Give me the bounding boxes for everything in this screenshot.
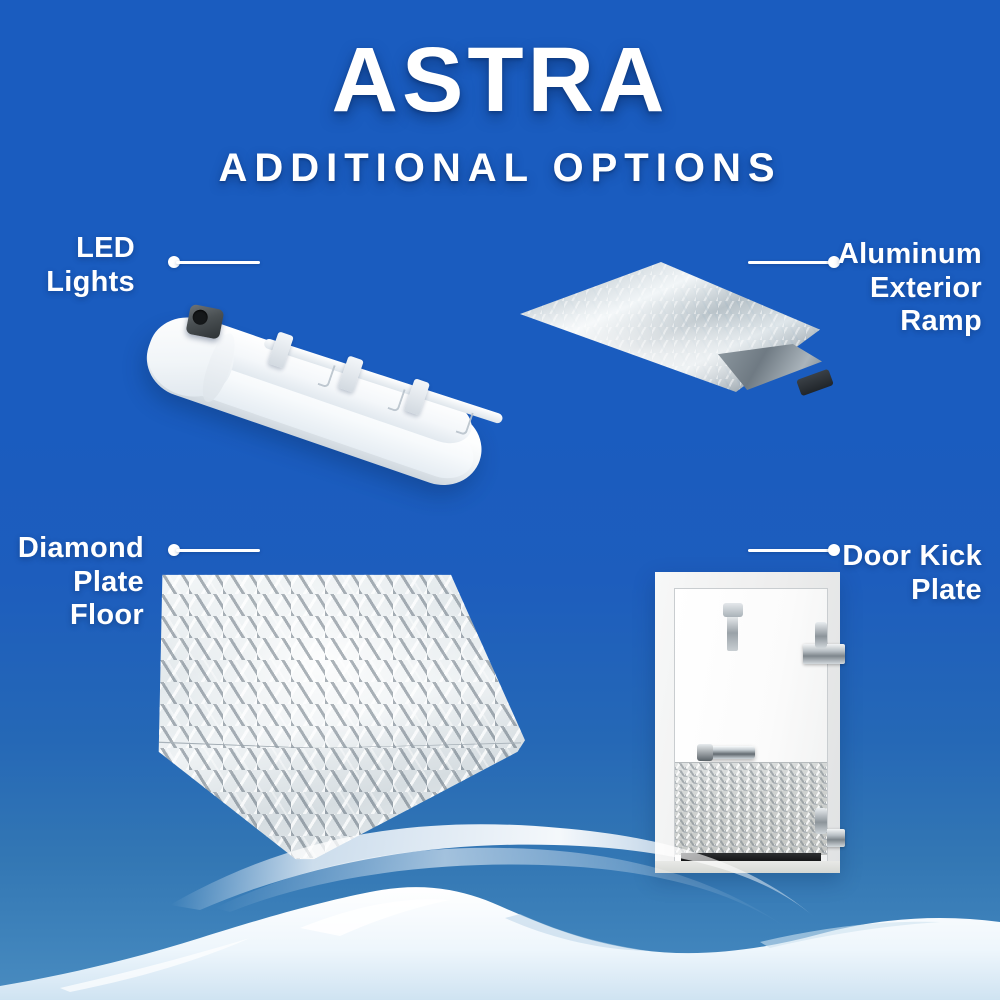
ice-mountain-graphic	[0, 810, 1000, 1000]
poster-canvas: ASTRA ADDITIONAL OPTIONS LED Lights	[0, 0, 1000, 1000]
poster-header: ASTRA ADDITIONAL OPTIONS	[0, 0, 1000, 188]
callout-label-line: Plate	[6, 566, 144, 600]
callout-label-line: Lights	[10, 266, 135, 300]
led-fixture-group	[132, 291, 508, 512]
door-safety-release	[727, 615, 738, 651]
connector-line-led-lights	[168, 256, 260, 268]
callout-label-line: Door Kick	[762, 540, 982, 574]
door-hinge-pin-top	[815, 622, 827, 648]
connector-line-diamond-plate-floor	[168, 544, 260, 556]
led-cable-gland	[185, 304, 224, 340]
callout-label-line: LED	[10, 232, 135, 266]
connector-bar	[176, 261, 260, 264]
connector-bar	[176, 549, 260, 552]
page-title: ASTRA	[0, 34, 1000, 126]
snow-mountain	[0, 887, 1000, 1000]
page-subtitle: ADDITIONAL OPTIONS	[0, 148, 1000, 188]
callout-label-line: Floor	[6, 599, 144, 633]
callout-label-diamond-plate-floor: Diamond Plate Floor	[6, 532, 144, 633]
door-handle	[703, 746, 755, 759]
product-image-aluminum-ramp	[520, 262, 850, 427]
callout-label-line: Diamond	[6, 532, 144, 566]
ramp-anchor-tab	[796, 369, 834, 397]
callout-label-led-lights: LED Lights	[10, 232, 135, 299]
product-image-led-light-fixture	[150, 270, 530, 450]
